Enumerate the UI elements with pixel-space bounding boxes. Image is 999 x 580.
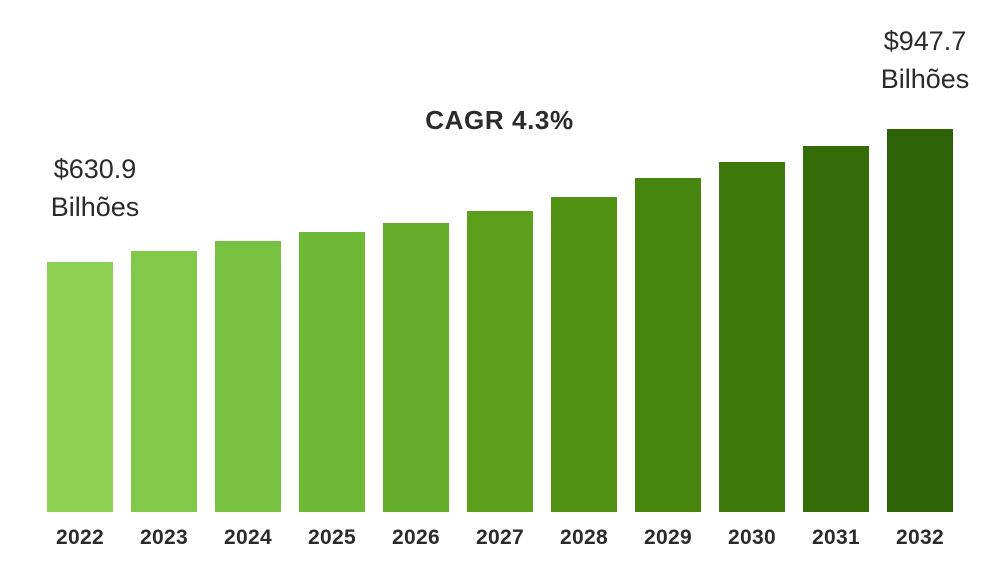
x-axis-label-2029: 2029	[626, 526, 710, 550]
x-axis-label-2025: 2025	[290, 526, 374, 550]
x-axis-label-2024: 2024	[206, 526, 290, 550]
last-value-callout-unit: Bilhões	[852, 60, 998, 98]
bar-2026[interactable]	[383, 223, 449, 513]
bar-2022[interactable]	[47, 262, 113, 512]
x-axis-label-2022: 2022	[38, 526, 122, 550]
x-axis-label-2030: 2030	[710, 526, 794, 550]
bar-2028[interactable]	[551, 197, 617, 512]
first-value-callout-amount: $630.9	[22, 150, 168, 188]
bar-2032[interactable]	[887, 129, 953, 512]
x-axis-label-2032: 2032	[878, 526, 962, 550]
bar-chart: 2022202320242025202620272028202920302031…	[0, 0, 999, 580]
first-value-callout: $630.9 Bilhões	[22, 150, 168, 227]
bar-2024[interactable]	[215, 241, 281, 512]
last-value-callout-amount: $947.7	[852, 22, 998, 60]
bar-2025[interactable]	[299, 232, 365, 512]
x-axis-label-2023: 2023	[122, 526, 206, 550]
x-axis-label-2026: 2026	[374, 526, 458, 550]
bar-2031[interactable]	[803, 146, 869, 512]
first-value-callout-unit: Bilhões	[22, 188, 168, 226]
plot-area: 2022202320242025202620272028202920302031…	[0, 0, 999, 580]
last-value-callout: $947.7 Bilhões	[852, 22, 998, 99]
x-axis-label-2027: 2027	[458, 526, 542, 550]
x-axis-label-2031: 2031	[794, 526, 878, 550]
bar-2027[interactable]	[467, 211, 533, 512]
x-axis-label-2028: 2028	[542, 526, 626, 550]
cagr-annotation: CAGR 4.3%	[340, 105, 660, 136]
bar-2030[interactable]	[719, 162, 785, 512]
bar-2029[interactable]	[635, 178, 701, 512]
bar-2023[interactable]	[131, 251, 197, 512]
